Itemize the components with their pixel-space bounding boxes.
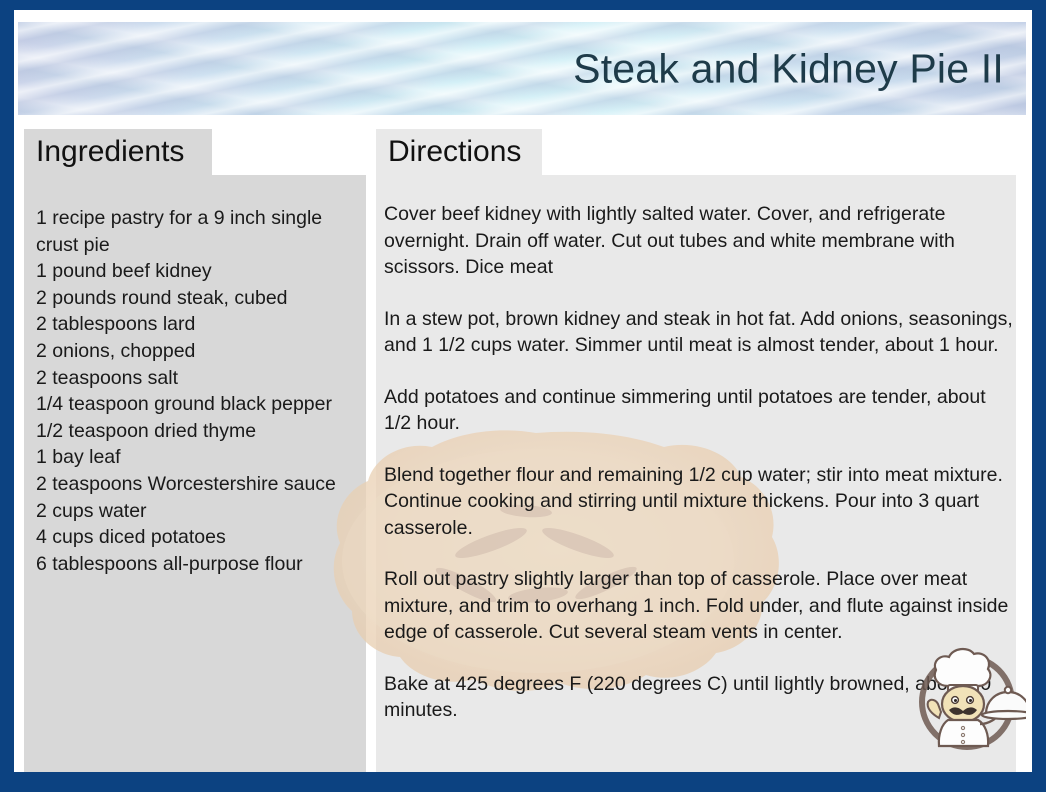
ingredients-heading-box: Ingredients <box>24 129 212 175</box>
ingredients-heading: Ingredients <box>36 135 184 169</box>
list-item: 6 tablespoons all-purpose flour <box>36 551 366 578</box>
list-item: 2 teaspoons Worcestershire sauce <box>36 471 366 498</box>
page-title: Steak and Kidney Pie II <box>573 45 1004 92</box>
direction-step: In a stew pot, brown kidney and steak in… <box>384 306 1014 359</box>
direction-step: Roll out pastry slightly larger than top… <box>384 566 1014 646</box>
title-banner: Steak and Kidney Pie II <box>18 22 1026 115</box>
list-item: 2 cups water <box>36 498 366 525</box>
list-item: 2 onions, chopped <box>36 338 366 365</box>
list-item: 1 bay leaf <box>36 444 366 471</box>
list-item: 2 teaspoons salt <box>36 365 366 392</box>
direction-step: Add potatoes and continue simmering unti… <box>384 384 1014 437</box>
directions-heading: Directions <box>388 135 521 169</box>
recipe-slide: Steak and Kidney Pie II Ingredients 1 re… <box>0 0 1046 792</box>
direction-step: Blend together flour and remaining 1/2 c… <box>384 462 1014 542</box>
list-item: 1 recipe pastry for a 9 inch single crus… <box>36 205 366 258</box>
direction-step: Cover beef kidney with lightly salted wa… <box>384 201 1014 281</box>
directions-body: Cover beef kidney with lightly salted wa… <box>384 201 1014 724</box>
list-item: 1/2 teaspoon dried thyme <box>36 418 366 445</box>
list-item: 2 pounds round steak, cubed <box>36 285 366 312</box>
list-item: 1/4 teaspoon ground black pepper <box>36 391 366 418</box>
directions-heading-box: Directions <box>376 129 542 175</box>
directions-head-notch <box>542 129 1016 175</box>
slide-page: Steak and Kidney Pie II Ingredients 1 re… <box>14 10 1032 772</box>
directions-panel: Directions Cover beef kidney with lightl… <box>376 129 1016 772</box>
list-item: 2 tablespoons lard <box>36 311 366 338</box>
direction-step: Bake at 425 degrees F (220 degrees C) un… <box>384 671 1014 724</box>
list-item: 4 cups diced potatoes <box>36 524 366 551</box>
ingredients-panel: Ingredients 1 recipe pastry for a 9 inch… <box>24 129 366 772</box>
list-item: 1 pound beef kidney <box>36 258 366 285</box>
ingredients-list: 1 recipe pastry for a 9 inch single crus… <box>36 205 366 577</box>
ingredients-head-notch <box>212 129 366 175</box>
